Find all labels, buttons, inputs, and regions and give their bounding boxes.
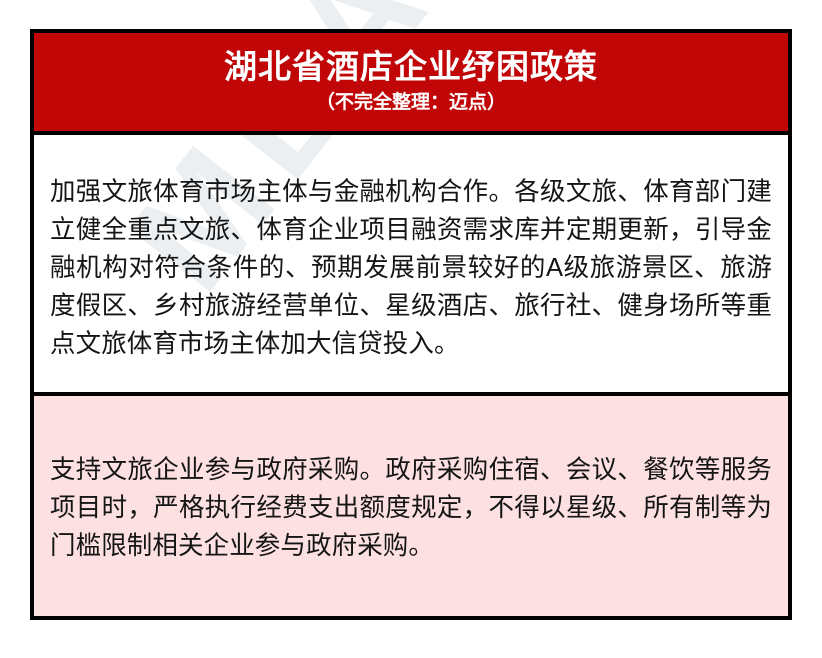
page-subtitle: （不完全整理：迈点）: [34, 89, 788, 118]
policy-text-credit-support: 加强文旅体育市场主体与金融机构合作。各级文旅、体育部门建立健全重点文旅、体育企业…: [50, 173, 772, 363]
policy-text-government-procurement: 支持文旅企业参与政府采购。政府采购住宿、会议、餐饮等服务项目时，严格执行经费支出…: [50, 451, 772, 565]
card-header: 湖北省酒店企业纾困政策 （不完全整理：迈点）: [34, 33, 788, 135]
policy-row: 支持文旅企业参与政府采购。政府采购住宿、会议、餐饮等服务项目时，严格执行经费支出…: [34, 392, 788, 616]
policy-row: 加强文旅体育市场主体与金融机构合作。各级文旅、体育部门建立健全重点文旅、体育企业…: [34, 135, 788, 392]
page-title: 湖北省酒店企业纾困政策: [34, 47, 788, 87]
policy-card: 湖北省酒店企业纾困政策 （不完全整理：迈点） 加强文旅体育市场主体与金融机构合作…: [30, 29, 792, 620]
